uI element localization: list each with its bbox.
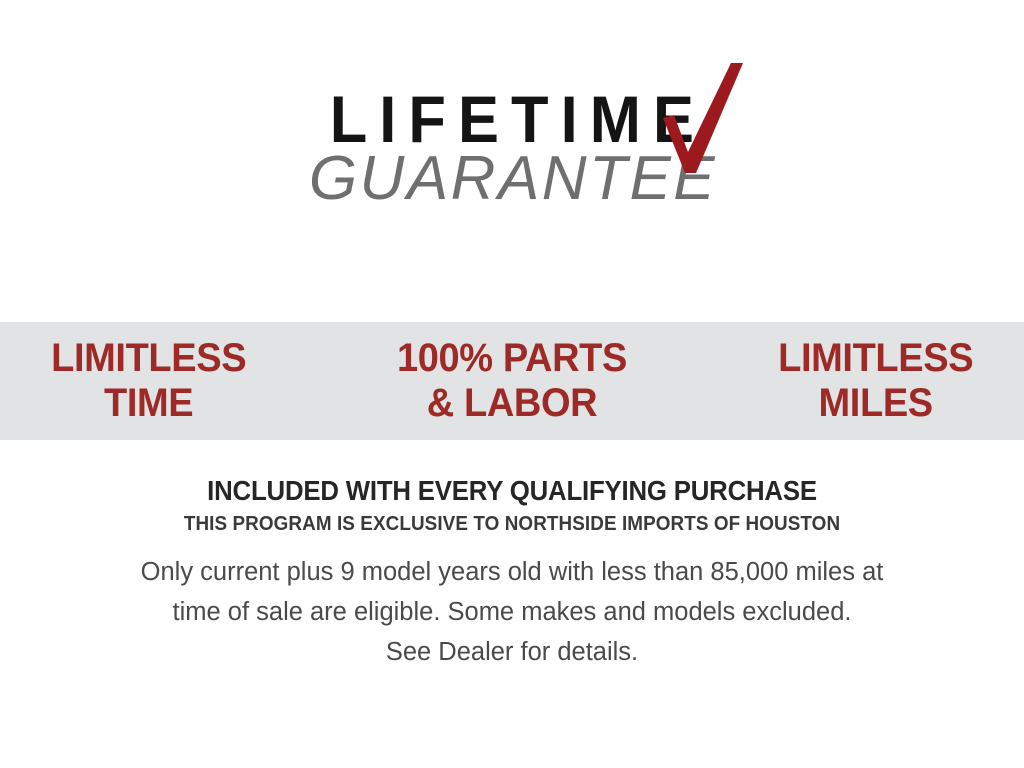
feature-line-1: 100% PARTS (397, 336, 627, 381)
details-block: INCLUDED WITH EVERY QUALIFYING PURCHASE … (0, 476, 1024, 672)
logo-guarantee-text: GUARANTEE (303, 148, 721, 210)
feature-column-limitless-miles: LIMITLESS MILES (778, 336, 973, 426)
fineprint-line: See Dealer for details. (62, 632, 962, 672)
feature-column-parts-labor: 100% PARTS & LABOR (397, 336, 627, 426)
details-fineprint: Only current plus 9 model years old with… (62, 552, 962, 672)
lifetime-guarantee-banner: LIFETIME GUARANTEE LIMITLESS TIME 100% P… (0, 0, 1024, 768)
logo-block: LIFETIME GUARANTEE (0, 86, 1024, 210)
details-headline: INCLUDED WITH EVERY QUALIFYING PURCHASE (41, 476, 983, 506)
feature-line-2: MILES (778, 381, 973, 426)
feature-column-limitless-time: LIMITLESS TIME (51, 336, 246, 426)
feature-line-2: & LABOR (397, 381, 627, 426)
feature-line-1: LIMITLESS (51, 336, 246, 381)
fineprint-line: Only current plus 9 model years old with… (62, 552, 962, 592)
feature-band: LIMITLESS TIME 100% PARTS & LABOR LIMITL… (0, 322, 1024, 440)
details-subhead: THIS PROGRAM IS EXCLUSIVE TO NORTHSIDE I… (41, 513, 983, 536)
logo-wordmark: LIFETIME GUARANTEE (303, 86, 721, 210)
feature-line-1: LIMITLESS (778, 336, 973, 381)
fineprint-line: time of sale are eligible. Some makes an… (62, 592, 962, 632)
logo-lifetime-text: LIFETIME (318, 86, 706, 152)
feature-line-2: TIME (51, 381, 246, 426)
